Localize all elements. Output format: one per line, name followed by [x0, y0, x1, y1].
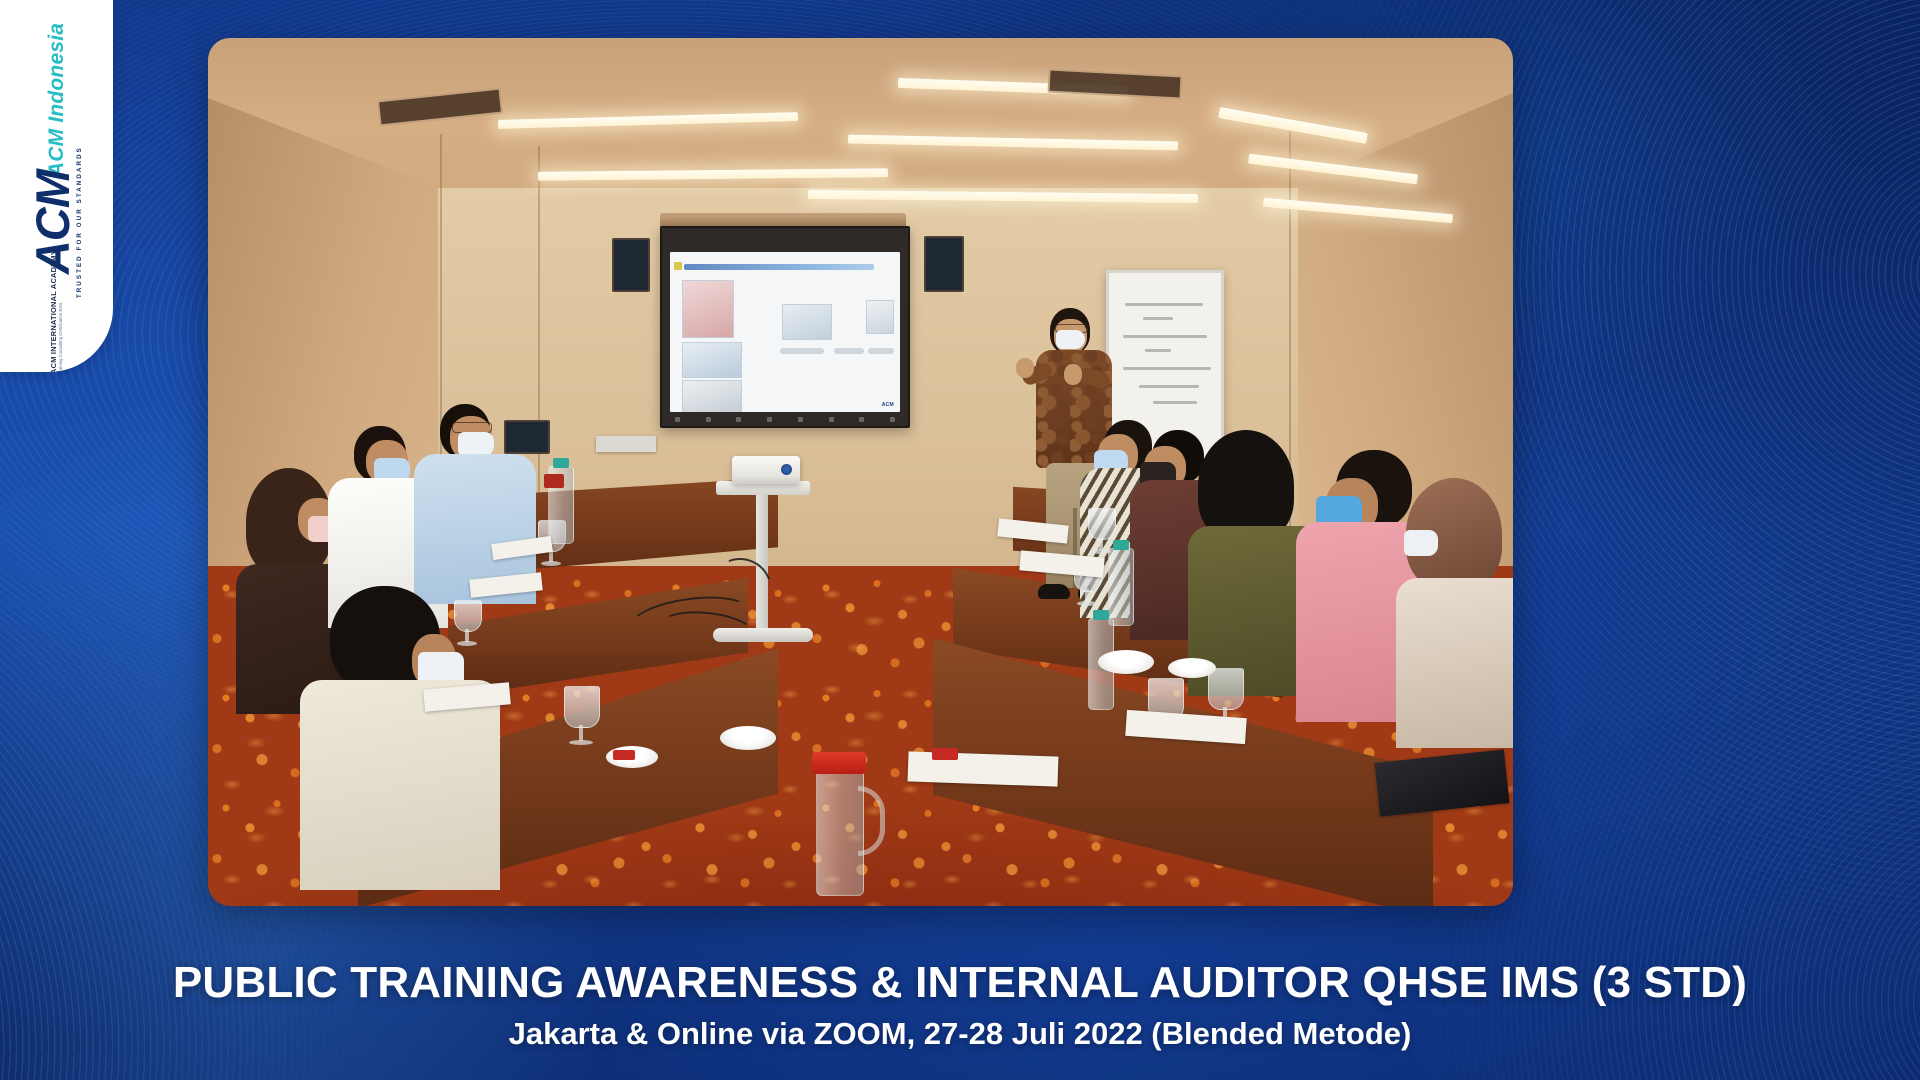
academy-logo-text: ACM INTERNATIONAL ACADEMY Training Consu…	[50, 250, 63, 372]
slide-heading-line	[684, 264, 874, 270]
bottle-cap	[1093, 610, 1109, 620]
presenter-hand-right	[1064, 364, 1082, 385]
event-title: PUBLIC TRAINING AWARENESS & INTERNAL AUD…	[120, 959, 1800, 1007]
bottle-cap	[1113, 540, 1129, 550]
brand-logo-panel: ACM Indonesia ACM TRUSTED FOR OUR STANDA…	[0, 0, 113, 372]
wall-monitor-left	[612, 238, 650, 292]
slide-image-5	[866, 300, 894, 334]
laptop-screen	[504, 420, 550, 454]
slide-control-dot	[706, 417, 711, 422]
flyer-canvas: ACM Indonesia ACM TRUSTED FOR OUR STANDA…	[0, 0, 1920, 1080]
flipchart-text-line	[1153, 401, 1197, 404]
participant-body	[1396, 578, 1513, 748]
glass-bowl	[454, 600, 482, 632]
slide-bullet-icon	[674, 262, 682, 270]
slide-control-dot	[736, 417, 741, 422]
slide-caption-line	[834, 348, 864, 354]
participant-face-mask	[458, 432, 494, 456]
glass-stem	[579, 725, 583, 741]
flipchart-text-line	[1139, 385, 1199, 388]
glass-bowl	[1208, 668, 1244, 710]
flipchart-text-line	[1125, 303, 1203, 306]
slide-image-1	[682, 280, 734, 338]
participant-hijab-far-right	[1396, 478, 1513, 738]
slide-control-dot	[859, 417, 864, 422]
event-photo: ACM	[208, 38, 1513, 906]
slide-caption-line	[780, 348, 824, 354]
flipchart-text-line	[1145, 349, 1171, 352]
glass-bowl	[564, 686, 600, 728]
saucer-dish	[1168, 658, 1216, 678]
participant-foreground-left	[300, 586, 480, 886]
slide-image-3	[682, 380, 742, 412]
projector	[732, 456, 800, 484]
red-cup	[544, 474, 564, 488]
event-photo-content: ACM	[208, 38, 1513, 906]
glass-bowl	[1088, 508, 1116, 540]
flipchart-text-line	[1123, 367, 1211, 370]
glass-foot	[1077, 601, 1097, 606]
slide-control-dot	[798, 417, 803, 422]
bottle-cap	[553, 458, 569, 468]
participant-body	[300, 680, 500, 890]
slide-image-4	[782, 304, 832, 340]
document-paper	[908, 751, 1059, 786]
water-pitcher	[816, 764, 864, 896]
saucer-dish	[1098, 650, 1154, 674]
glass-foot	[569, 740, 593, 745]
presenter-shoe-left	[1038, 584, 1070, 599]
projector-lens-icon	[781, 464, 792, 475]
slide-control-bar	[662, 414, 908, 425]
saucer-dish	[720, 726, 776, 750]
presenter-hand-left	[1016, 358, 1034, 378]
academy-logo-name: ACM INTERNATIONAL ACADEMY	[50, 250, 58, 372]
projection-screen: ACM	[660, 226, 910, 428]
red-coaster	[613, 750, 635, 760]
presentation-slide: ACM	[670, 252, 900, 412]
flipchart-text-line	[1143, 317, 1173, 320]
red-coaster	[932, 748, 958, 760]
slide-image-2	[682, 342, 742, 378]
glass-foot	[457, 641, 477, 646]
slide-control-dot	[767, 417, 772, 422]
drinking-glass	[564, 686, 598, 748]
water-bottle	[1108, 548, 1134, 626]
participant-face-mask	[1404, 530, 1438, 556]
drinking-glass	[454, 600, 480, 648]
pitcher-lid	[812, 752, 866, 774]
glass-foot	[541, 561, 561, 566]
acm-international-academy-logo: ACM INTERNATIONAL ACADEMY Training Consu…	[35, 250, 79, 372]
slide-control-dot	[890, 417, 895, 422]
slide-footer-logo: ACM	[882, 402, 894, 408]
slide-control-dot	[675, 417, 680, 422]
event-subtitle: Jakarta & Online via ZOOM, 27-28 Juli 20…	[120, 1016, 1800, 1052]
academy-logo-tagline: Training Consulting Certification ESG	[59, 250, 63, 372]
flipchart-text-line	[1123, 335, 1207, 338]
presenter-face-mask	[1056, 330, 1085, 349]
wall-monitor-right	[924, 236, 964, 292]
slide-caption-line	[868, 348, 894, 354]
laptop-base	[596, 436, 656, 452]
caption-block: PUBLIC TRAINING AWARENESS & INTERNAL AUD…	[0, 959, 1920, 1052]
slide-control-dot	[829, 417, 834, 422]
